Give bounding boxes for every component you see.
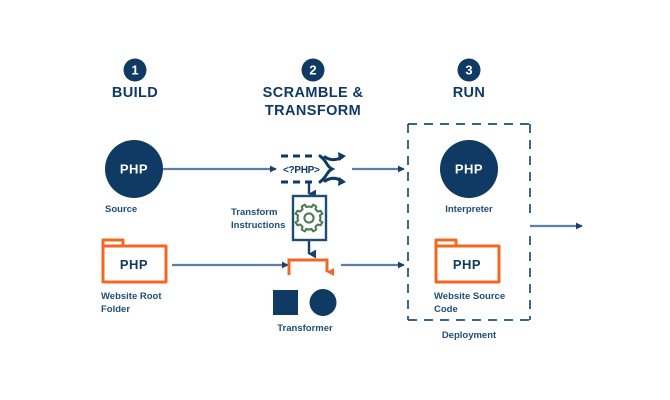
- node-interpreter[interactable]: PHP Interpreter: [440, 140, 498, 215]
- step-title-build: BUILD: [112, 85, 158, 101]
- interpreter-caption: Interpreter: [445, 204, 493, 215]
- node-source[interactable]: PHP Source: [105, 140, 163, 215]
- transform-instructions-caption-1: Transform: [231, 207, 277, 218]
- transformer-shapes-icon: [273, 260, 337, 316]
- step-title-run: RUN: [453, 85, 486, 101]
- scramble-code-label: <?PHP>: [283, 165, 320, 176]
- deployment-caption: Deployment: [442, 330, 497, 341]
- diagram-svg: 1 BUILD 2 SCRAMBLE & TRANSFORM 3 RUN Dep…: [0, 0, 670, 400]
- interpreter-php-badge: PHP: [455, 162, 483, 177]
- step-title-scramble: SCRAMBLE &: [263, 85, 364, 101]
- website-root-folder-caption-1: Website Root: [101, 291, 162, 302]
- source-caption: Source: [105, 204, 137, 215]
- step-badge-label-3: 3: [465, 63, 472, 78]
- website-source-code-caption-2: Code: [434, 304, 458, 315]
- source-php-badge: PHP: [120, 162, 148, 177]
- node-website-root-folder[interactable]: PHP Website Root Folder: [101, 240, 166, 315]
- node-website-source-code[interactable]: PHP Website Source Code: [434, 240, 505, 315]
- step-header-build: 1 BUILD: [112, 59, 158, 102]
- step-header-scramble-transform: 2 SCRAMBLE & TRANSFORM: [263, 59, 364, 120]
- node-transform-instructions[interactable]: Transform Instructions: [231, 196, 326, 240]
- connectors: [163, 169, 582, 265]
- step-badge-label-2: 2: [309, 63, 316, 78]
- diagram-canvas: 1 BUILD 2 SCRAMBLE & TRANSFORM 3 RUN Dep…: [0, 0, 670, 400]
- node-scramble[interactable]: <?PHP>: [281, 152, 346, 186]
- step-title-transform: TRANSFORM: [265, 103, 361, 119]
- website-root-folder-caption-2: Folder: [101, 304, 130, 315]
- step-badge-label-1: 1: [131, 63, 138, 78]
- website-source-code-caption-1: Website Source: [434, 291, 505, 302]
- transformer-caption: Transformer: [277, 323, 333, 334]
- website-root-folder-php-badge: PHP: [120, 257, 148, 272]
- transform-instructions-caption-2: Instructions: [231, 220, 285, 231]
- node-transformer[interactable]: Transformer: [273, 260, 337, 334]
- step-header-run: 3 RUN: [453, 59, 486, 102]
- website-source-code-php-badge: PHP: [453, 257, 481, 272]
